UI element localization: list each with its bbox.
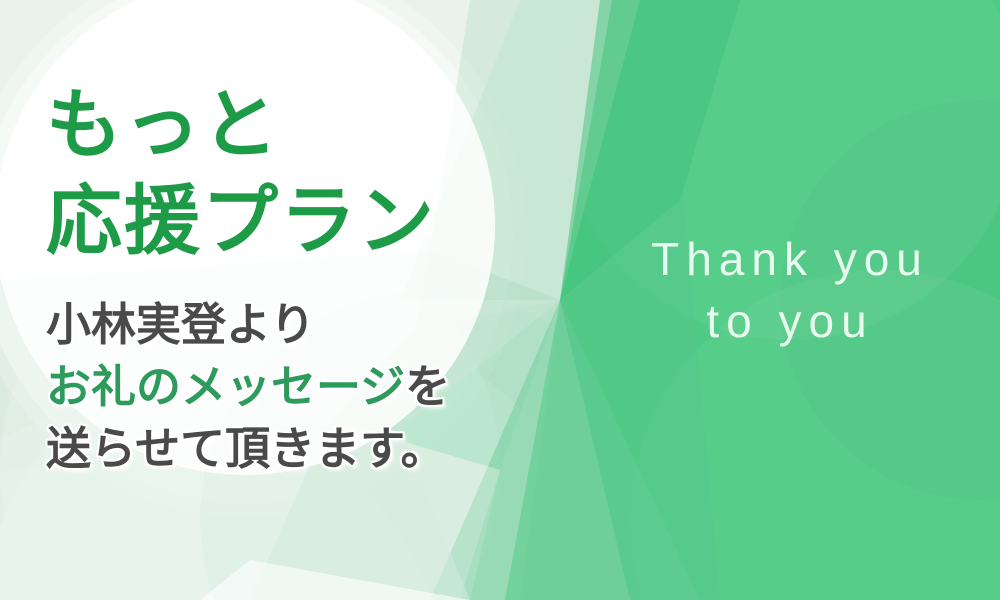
subtitle-line-2-accent: お礼のメッセージ	[46, 361, 405, 412]
subtitle-block: 小林実登より お礼のメッセージを 送らせて頂きます。	[46, 270, 516, 480]
subtitle-line-3-text: 送らせて頂きます。	[46, 423, 446, 474]
subtitle-line-1: 小林実登より	[46, 294, 516, 356]
headline-line-2: 応援プラン	[46, 174, 516, 270]
thank-you-banner: もっと 応援プラン 小林実登より お礼のメッセージを 送らせて頂きます。 Tha…	[0, 0, 1000, 600]
subtitle-line-2: お礼のメッセージを	[46, 356, 516, 418]
thank-you-line-1: Thank you	[600, 228, 980, 290]
headline-line-1: もっと	[46, 78, 516, 174]
subtitle-line-2-tail: を	[405, 361, 450, 412]
thank-you-line-2: to you	[600, 290, 980, 352]
subtitle-line-3: 送らせて頂きます。	[46, 418, 516, 480]
thank-you-block: Thank you to you	[600, 228, 980, 352]
left-copy-block: もっと 応援プラン 小林実登より お礼のメッセージを 送らせて頂きます。	[46, 78, 516, 480]
subtitle-line-1-text: 小林実登より	[46, 299, 315, 350]
